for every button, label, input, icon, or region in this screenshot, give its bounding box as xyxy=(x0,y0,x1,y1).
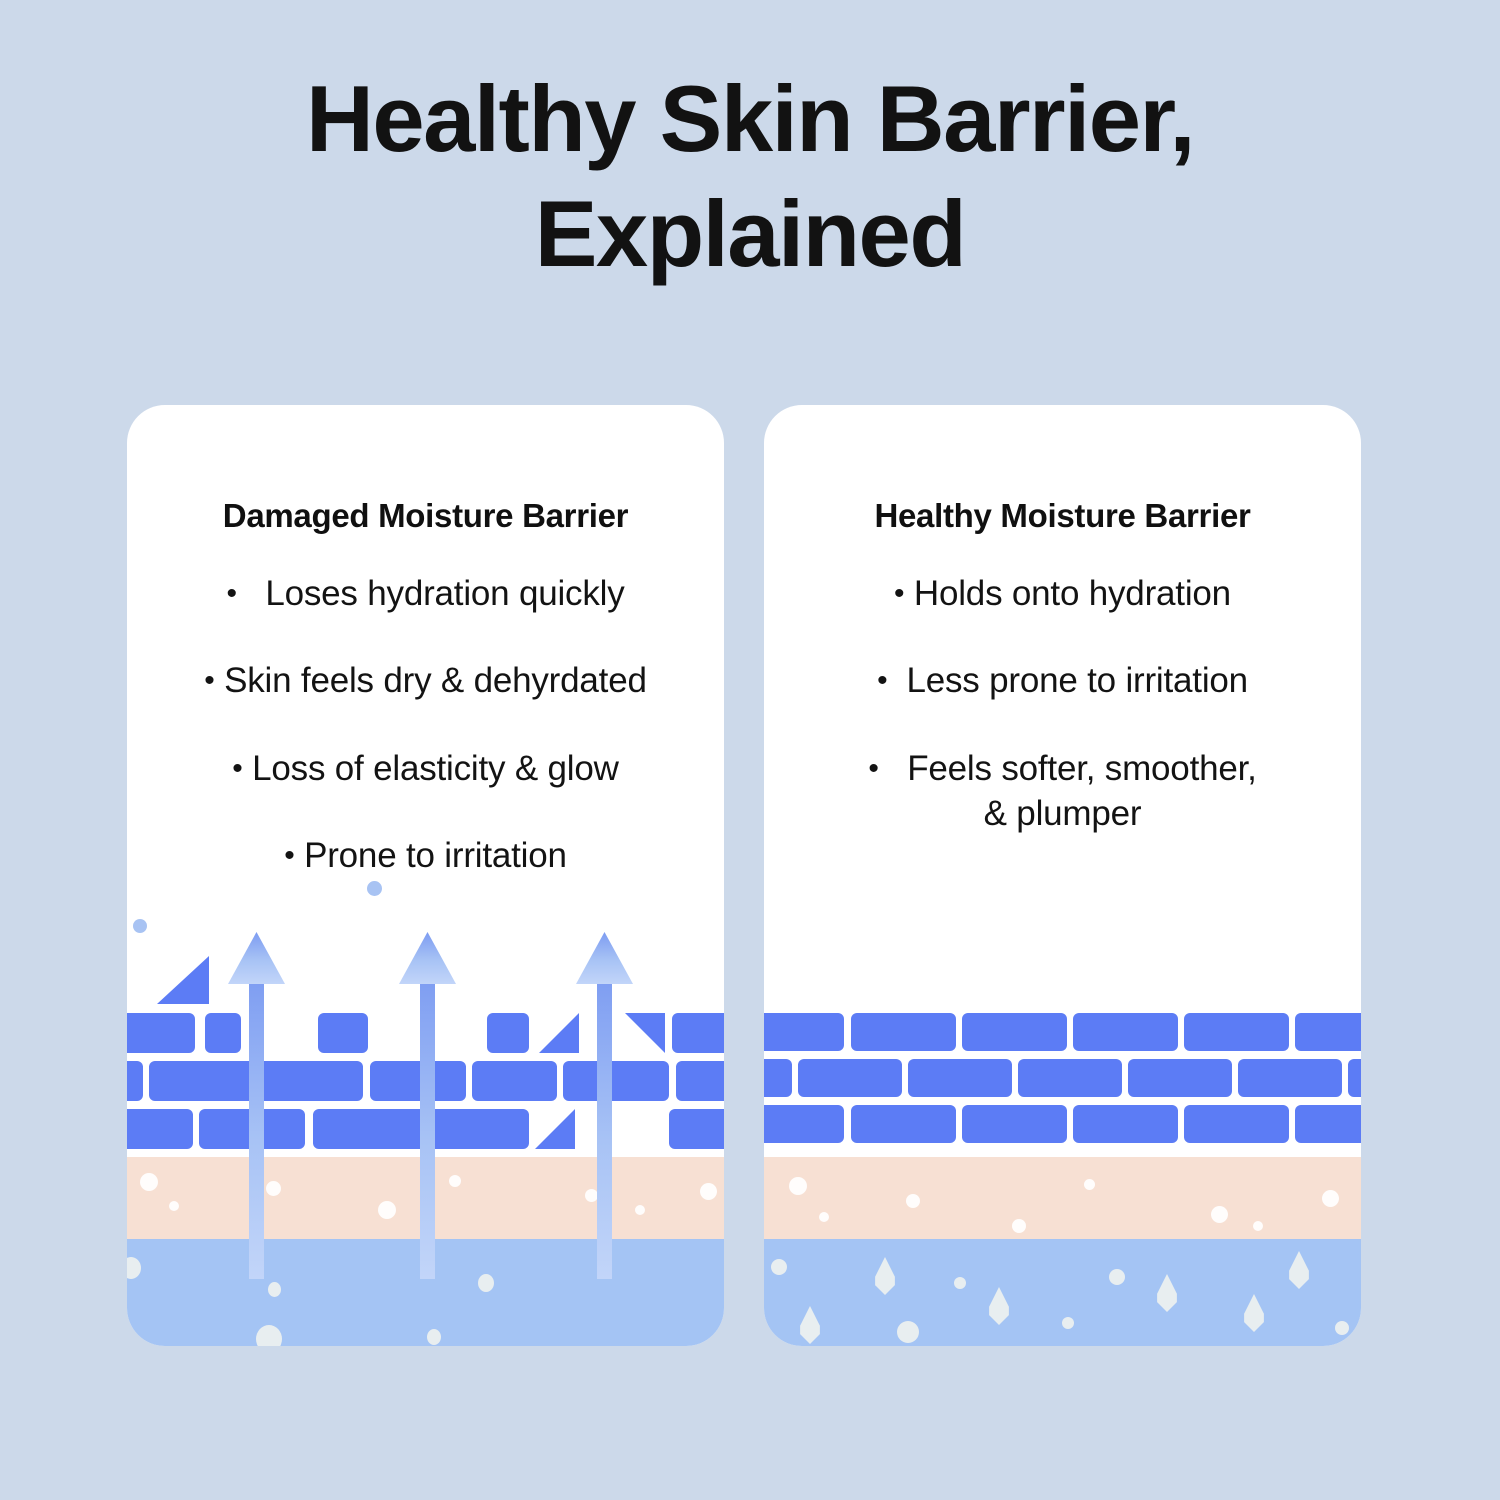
water-speck xyxy=(427,1329,441,1345)
moisture-dot xyxy=(367,881,382,896)
water-speck xyxy=(478,1274,494,1292)
moisture-speck xyxy=(1322,1190,1339,1207)
moisture-speck xyxy=(266,1181,281,1196)
bullet-text: Holds onto hydration xyxy=(914,574,1231,613)
bullet-marker: • xyxy=(868,752,878,785)
list-item: • Holds onto hydration xyxy=(786,573,1339,614)
list-item: • Feels softer, smoother, xyxy=(786,748,1339,789)
list-item: • Loses hydration quickly xyxy=(149,573,702,614)
bullet-text: & plumper xyxy=(984,794,1142,833)
water-reservoir-layer xyxy=(127,1239,724,1346)
brick xyxy=(1348,1059,1361,1097)
broken-brick-fragment xyxy=(535,1109,575,1149)
bullet-text: Less prone to irritation xyxy=(906,661,1248,700)
card-damaged-bullet-list: • Loses hydration quickly • Skin feels d… xyxy=(127,573,724,922)
brick xyxy=(1073,1013,1178,1051)
brick xyxy=(764,1013,844,1051)
brick xyxy=(472,1061,557,1101)
card-damaged-heading: Damaged Moisture Barrier xyxy=(127,497,724,535)
moisture-speck xyxy=(635,1205,645,1215)
brick xyxy=(1073,1105,1178,1143)
water-speck xyxy=(1109,1269,1125,1285)
bullet-marker: • xyxy=(284,839,294,872)
infographic-canvas: Healthy Skin Barrier, Explained Damaged … xyxy=(0,0,1500,1500)
water-droplet xyxy=(986,1287,1012,1325)
moisture-speck xyxy=(1084,1179,1095,1190)
brick xyxy=(149,1061,363,1101)
brick xyxy=(798,1059,902,1097)
brick xyxy=(563,1061,669,1101)
dermis-layer xyxy=(127,1157,724,1239)
water-speck xyxy=(897,1321,919,1343)
water-speck xyxy=(954,1277,966,1289)
moisture-speck xyxy=(819,1212,829,1222)
moisture-speck xyxy=(1211,1206,1228,1223)
moisture-speck xyxy=(700,1183,717,1200)
list-item: & plumper xyxy=(786,793,1339,834)
page-title-line-1: Healthy Skin Barrier, xyxy=(306,66,1194,171)
water-droplet xyxy=(1154,1274,1180,1312)
bullet-marker: • xyxy=(204,664,214,697)
list-item: • Prone to irritation xyxy=(149,835,702,876)
moisture-speck xyxy=(378,1201,396,1219)
list-item: • Skin feels dry & dehyrdated xyxy=(149,660,702,701)
damaged-barrier-diagram xyxy=(127,1009,724,1346)
moisture-speck xyxy=(1253,1221,1263,1231)
broken-brick-wall xyxy=(127,1009,724,1157)
brick xyxy=(962,1105,1067,1143)
page-title: Healthy Skin Barrier, Explained xyxy=(0,62,1500,291)
bullet-marker: • xyxy=(894,577,904,610)
water-droplet xyxy=(1286,1251,1312,1289)
brick xyxy=(764,1105,844,1143)
bullet-marker: • xyxy=(226,577,236,610)
brick xyxy=(487,1013,529,1053)
moisture-speck xyxy=(906,1194,920,1208)
brick xyxy=(962,1013,1067,1051)
broken-brick-fragment xyxy=(157,956,209,1004)
healthy-barrier-diagram xyxy=(764,1009,1361,1346)
brick xyxy=(313,1109,529,1149)
brick xyxy=(1128,1059,1232,1097)
brick xyxy=(127,1109,193,1149)
brick xyxy=(318,1013,368,1053)
moisture-speck xyxy=(140,1173,158,1191)
page-title-line-2: Explained xyxy=(170,177,1330,292)
brick xyxy=(669,1109,724,1149)
water-speck xyxy=(268,1282,281,1297)
brick xyxy=(127,1013,195,1053)
brick xyxy=(1295,1105,1361,1143)
brick xyxy=(1184,1105,1289,1143)
brick xyxy=(672,1013,724,1053)
moisture-speck xyxy=(585,1189,598,1202)
brick xyxy=(199,1109,305,1149)
water-speck xyxy=(1335,1321,1349,1335)
list-item: • Less prone to irritation xyxy=(786,660,1339,701)
water-speck xyxy=(1062,1317,1074,1329)
brick xyxy=(370,1061,466,1101)
brick xyxy=(1018,1059,1122,1097)
water-droplet xyxy=(872,1257,898,1295)
intact-brick-wall xyxy=(764,1009,1361,1157)
moisture-speck xyxy=(1012,1219,1026,1233)
water-droplet xyxy=(797,1306,823,1344)
water-speck xyxy=(127,1257,141,1279)
brick xyxy=(851,1013,956,1051)
bullet-text: Feels softer, smoother, xyxy=(907,749,1256,788)
brick xyxy=(127,1061,143,1101)
broken-brick-fragment xyxy=(625,1013,665,1053)
bullet-text: Skin feels dry & dehyrdated xyxy=(224,661,647,700)
brick xyxy=(205,1013,241,1053)
brick xyxy=(1184,1013,1289,1051)
card-healthy-heading: Healthy Moisture Barrier xyxy=(764,497,1361,535)
bullet-marker: • xyxy=(232,752,242,785)
card-healthy-bullet-list: • Holds onto hydration • Less prone to i… xyxy=(764,573,1361,880)
brick xyxy=(908,1059,1012,1097)
card-healthy-barrier: Healthy Moisture Barrier • Holds onto hy… xyxy=(764,405,1361,1346)
moisture-speck xyxy=(789,1177,807,1195)
moisture-speck xyxy=(169,1201,179,1211)
broken-brick-fragment xyxy=(539,1013,579,1053)
brick xyxy=(1295,1013,1361,1051)
water-reservoir-layer xyxy=(764,1239,1361,1346)
bullet-marker: • xyxy=(877,664,887,697)
list-item: • Loss of elasticity & glow xyxy=(149,748,702,789)
bullet-text: Prone to irritation xyxy=(304,836,567,875)
water-speck xyxy=(256,1325,282,1346)
brick xyxy=(851,1105,956,1143)
bullet-text: Loses hydration quickly xyxy=(265,574,624,613)
bullet-text: Loss of elasticity & glow xyxy=(252,749,619,788)
water-droplet xyxy=(1241,1294,1267,1332)
dermis-layer xyxy=(764,1157,1361,1239)
brick xyxy=(676,1061,724,1101)
brick xyxy=(1238,1059,1342,1097)
brick xyxy=(764,1059,792,1097)
water-speck xyxy=(771,1259,787,1275)
moisture-dot xyxy=(133,919,147,933)
card-damaged-barrier: Damaged Moisture Barrier • Loses hydrati… xyxy=(127,405,724,1346)
moisture-speck xyxy=(449,1175,461,1187)
